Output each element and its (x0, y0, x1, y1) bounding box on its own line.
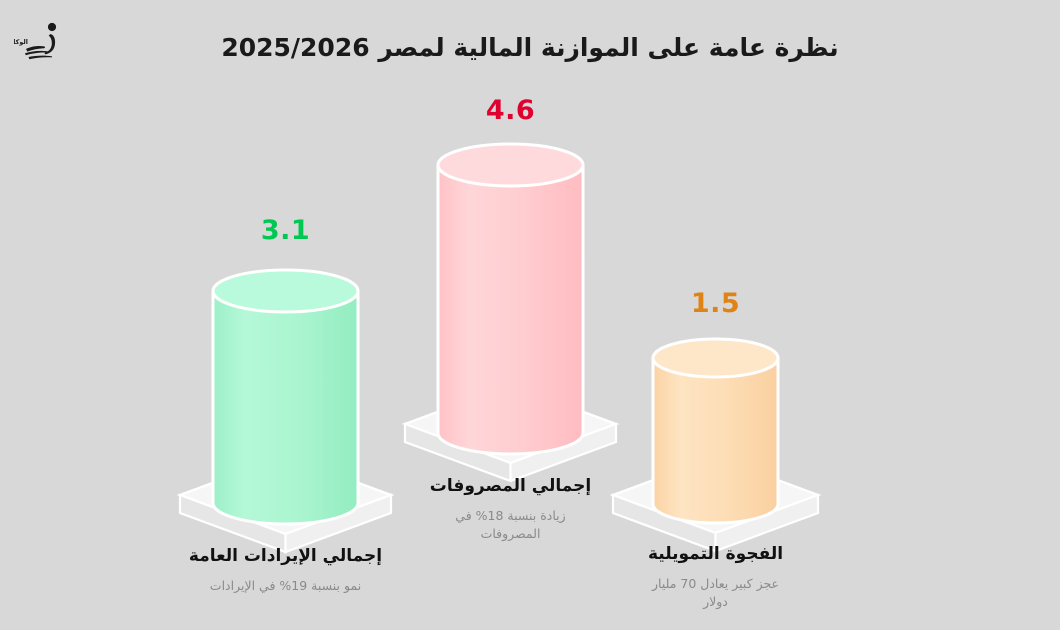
bar-group-financing-gap[interactable]: 1.5 الفجوة التمويلية عجز كبير يعادل 70 م… (598, 288, 833, 628)
bar-group-revenue[interactable]: 3.1 إجمالي الإيرادات العامة نمو (163, 215, 408, 625)
bar-caption-revenue: إجمالي الإيرادات العامة (163, 545, 408, 567)
bar-value-revenue: 3.1 (163, 215, 408, 246)
bar-value-expenditure: 4.6 (388, 95, 633, 126)
cylinder-revenue (163, 263, 408, 563)
bar-caption-expenditure: إجمالي المصروفات (388, 475, 633, 497)
bar-value-financing-gap: 1.5 (598, 288, 833, 319)
chart-stage: 3.1 إجمالي الإيرادات العامة نمو (0, 0, 1060, 630)
bar-subtitle-expenditure: زيادة بنسبة 18% في المصروفات (388, 507, 633, 543)
cylinder-expenditure (388, 137, 633, 482)
bar-subtitle-financing-gap: عجز كبير يعادل 70 مليار دولار (598, 575, 833, 611)
bar-caption-financing-gap: الفجوة التمويلية (598, 543, 833, 565)
cylinder-financing-gap (598, 332, 833, 562)
bar-group-expenditure[interactable]: 4.6 إجمالي المصروفات زيادة بنسبة 18% في … (388, 95, 633, 555)
bar-subtitle-revenue: نمو بنسبة 19% في الإيرادات (163, 577, 408, 595)
